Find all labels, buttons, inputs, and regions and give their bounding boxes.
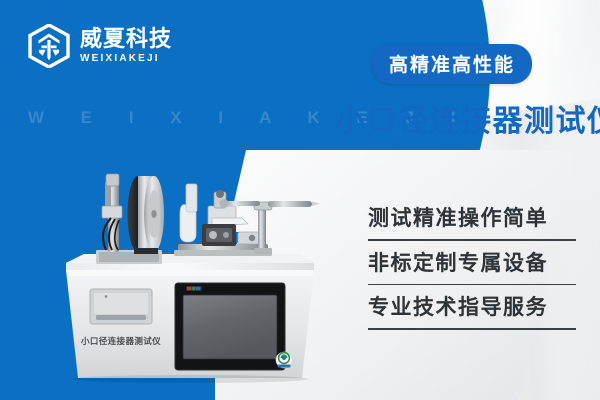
machine-panel-label: 小口径连接器测试仪 — [80, 336, 161, 346]
feature-divider — [368, 328, 576, 330]
machine-touchscreen[interactable] — [175, 283, 285, 370]
product-machine-illustration: 小口径连接器测试仪 — [62, 162, 322, 387]
hexagon-shield-arrow-logo-icon — [28, 24, 70, 68]
feature-item: 非标定制专属设备 — [368, 241, 580, 286]
machine-rotary-disc-assembly — [96, 174, 164, 264]
hero-badge: 高精准高性能 — [372, 44, 532, 84]
product-banner: W E I X I A K E J I 威夏科技 WEIXIAKEJI 高精准高… — [0, 0, 600, 400]
hero-title: 小口径连接器测试仪 — [335, 96, 600, 140]
feature-label: 专业技术指导服务 — [368, 285, 580, 328]
feature-item: 测试精准操作简单 — [368, 196, 580, 241]
machine-side-drawer — [90, 289, 152, 324]
feature-label: 非标定制专属设备 — [368, 241, 580, 284]
brand-name-cn: 威夏科技 — [80, 27, 172, 50]
feature-label: 测试精准操作简单 — [368, 196, 580, 239]
screen-brand-chip-icon — [186, 286, 202, 291]
feature-item: 专业技术指导服务 — [368, 285, 580, 330]
machine-center-fixture — [174, 184, 272, 256]
brand-logo: 威夏科技 WEIXIAKEJI — [28, 24, 172, 68]
feature-list: 测试精准操作简单 非标定制专属设备 专业技术指导服务 — [368, 196, 580, 330]
certification-seal-icon — [276, 352, 292, 368]
brand-logo-text: 威夏科技 WEIXIAKEJI — [80, 27, 172, 65]
brand-name-en: WEIXIAKEJI — [80, 52, 172, 65]
